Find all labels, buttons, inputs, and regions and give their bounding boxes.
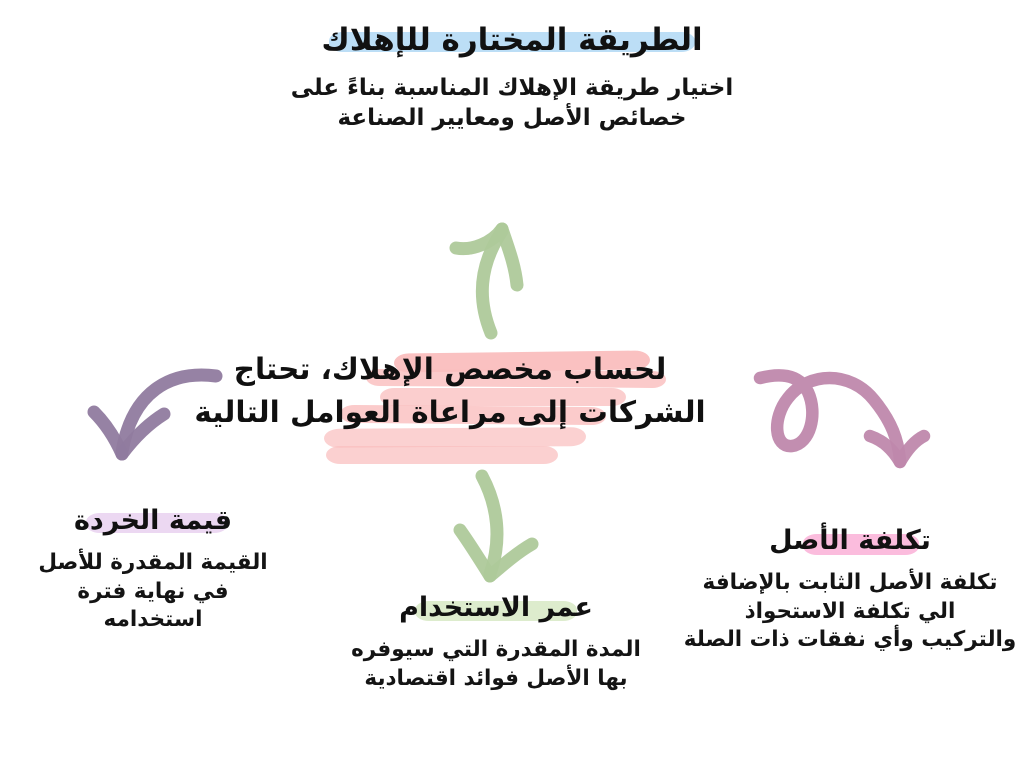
salvage-description: القيمة المقدرة للأصل في نهاية فترة استخد… (0, 549, 312, 635)
useful-life-description-line-1: المدة المقدرة التي سيوفره (320, 636, 672, 665)
useful-life-title: عمر الاستخدام (399, 592, 593, 624)
salvage-description-line-1: القيمة المقدرة للأصل (0, 549, 312, 578)
central-statement-line-1: لحساب مخصص الإهلاك، تحتاج (194, 348, 705, 391)
useful-life-description-line-2: بها الأصل فوائد اقتصادية (320, 665, 672, 694)
node-depreciation-method: الطريقة المختارة للإهلاك اختيار طريقة ال… (0, 22, 1024, 134)
asset-cost-description: تكلفة الأصل الثابت بالإضافة الي تكلفة ال… (676, 569, 1024, 655)
central-statement-line-2: الشركات إلى مراعاة العوامل التالية (194, 391, 705, 434)
node-asset-cost: تكلفة الأصل تكلفة الأصل الثابت بالإضافة … (676, 525, 1024, 655)
arrow-down-to-useful-life-icon (432, 468, 572, 598)
node-salvage-value: قيمة الخردة القيمة المقدرة للأصل في نهاي… (0, 505, 312, 635)
method-title: الطريقة المختارة للإهلاك (321, 22, 702, 59)
asset-cost-description-line-3: والتركيب وأي نفقات ذات الصلة (676, 626, 1024, 655)
method-description: اختيار طريقة الإهلاك المناسبة بناءً على … (0, 73, 1024, 135)
central-highlight-stroke (326, 446, 558, 464)
arrow-up-to-method-icon (418, 205, 568, 345)
method-description-line-1: اختيار طريقة الإهلاك المناسبة بناءً على (0, 73, 1024, 104)
asset-cost-description-line-1: تكلفة الأصل الثابت بالإضافة (676, 569, 1024, 598)
node-useful-life: عمر الاستخدام المدة المقدرة التي سيوفره … (320, 592, 672, 693)
salvage-description-line-2: في نهاية فترة (0, 578, 312, 607)
arrow-right-to-cost-loop-icon (758, 348, 928, 498)
method-description-line-2: خصائص الأصل ومعايير الصناعة (0, 103, 1024, 134)
salvage-title-wrap: قيمة الخردة (68, 505, 238, 537)
infographic-canvas: الطريقة المختارة للإهلاك اختيار طريقة ال… (0, 0, 1024, 768)
asset-cost-description-line-2: الي تكلفة الاستحواذ (676, 598, 1024, 627)
node-central-statement: لحساب مخصص الإهلاك، تحتاج الشركات إلى مر… (172, 348, 728, 434)
method-title-wrap: الطريقة المختارة للإهلاك (315, 22, 708, 59)
useful-life-description: المدة المقدرة التي سيوفره بها الأصل فوائ… (320, 636, 672, 694)
salvage-title: قيمة الخردة (74, 505, 232, 537)
salvage-description-line-3: استخدامه (0, 606, 312, 635)
asset-cost-title: تكلفة الأصل (769, 525, 931, 557)
useful-life-title-wrap: عمر الاستخدام (393, 592, 599, 624)
asset-cost-title-wrap: تكلفة الأصل (763, 525, 937, 557)
